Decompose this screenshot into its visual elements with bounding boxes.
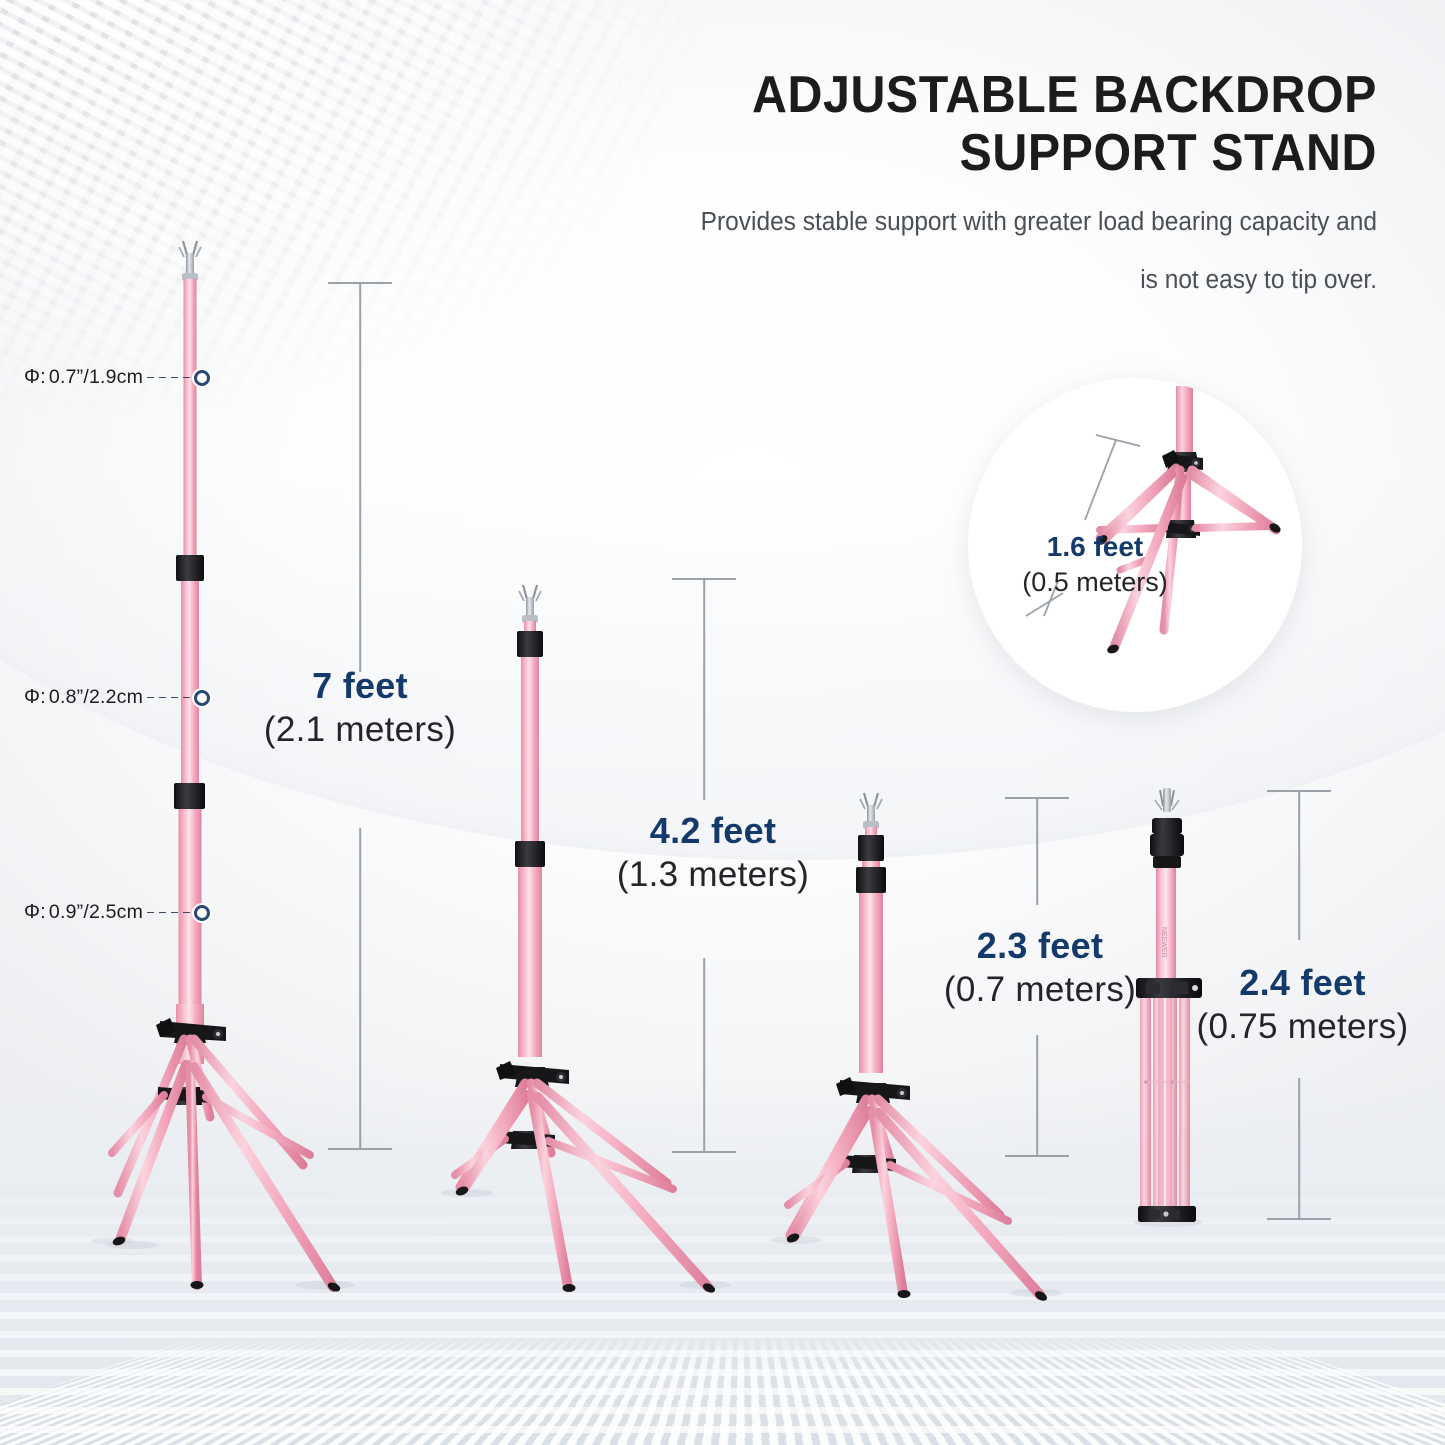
diameter-marker-dot <box>194 690 210 706</box>
diameter-value: 0.7”/1.9cm <box>49 366 143 389</box>
page-subtitle-line-1: Provides stable support with greater loa… <box>609 204 1377 240</box>
diameter-value: 0.9”/2.5cm <box>49 901 143 924</box>
leader-line <box>147 377 191 378</box>
svg-text:NEEWER: NEEWER <box>1160 927 1167 958</box>
lock-collar <box>517 631 543 657</box>
inset-measurement: 1.6 feet (0.5 meters) <box>990 530 1200 600</box>
lock-collar <box>176 555 204 581</box>
diameter-symbol: Φ: <box>24 686 46 709</box>
spigot-top-2 <box>519 585 541 623</box>
page-subtitle-line-2: is not easy to tip over. <box>609 262 1377 298</box>
tripod-leg <box>190 1065 197 1285</box>
diameter-symbol: Φ: <box>24 366 46 389</box>
tripod-leg <box>794 1111 868 1237</box>
page-title-line-2: SUPPORT STAND <box>633 124 1377 182</box>
diameter-callout-1: Φ: 0.7”/1.9cm <box>24 366 210 389</box>
inset-measurement-feet: 1.6 feet <box>990 530 1200 564</box>
tripod-leg <box>120 1065 186 1240</box>
lock-knob <box>1152 818 1182 834</box>
lock-collar <box>856 867 886 893</box>
spigot-top-1 <box>179 241 201 281</box>
diameter-marker-dot <box>194 370 210 386</box>
folded-leg <box>1140 998 1151 1218</box>
folded-foot-cap <box>1138 1206 1196 1222</box>
lock-collar <box>858 835 884 861</box>
inset-leg <box>1190 474 1274 528</box>
spigot-top-3 <box>860 793 882 829</box>
diameter-marker-dot <box>194 905 210 921</box>
leader-line <box>147 697 191 698</box>
diameter-value: 0.8”/2.2cm <box>49 686 143 709</box>
diameter-callout-2: Φ: 0.8”/2.2cm <box>24 686 210 709</box>
lock-collar <box>174 783 205 809</box>
diameter-callout-3: Φ: 0.9”/2.5cm <box>24 901 210 924</box>
lock-collar <box>515 841 545 867</box>
diameter-symbol: Φ: <box>24 901 46 924</box>
page-title-line-1: ADJUSTABLE BACKDROP <box>633 66 1377 124</box>
tripod-leg <box>194 1067 333 1287</box>
leader-line <box>147 912 191 913</box>
spigot-top-4 <box>1155 788 1179 812</box>
measurement-2-4ft: 2.4 feet (0.75 meters) <box>1175 962 1430 1050</box>
lock-knob <box>1150 834 1184 856</box>
header-block: ADJUSTABLE BACKDROP SUPPORT STAND Provid… <box>577 66 1377 298</box>
measurement-meters: (0.75 meters) <box>1175 1004 1430 1050</box>
measurement-feet: 2.4 feet <box>1175 962 1430 1004</box>
inset-measurement-meters: (0.5 meters) <box>990 564 1200 600</box>
infographic-canvas: ADJUSTABLE BACKDROP SUPPORT STAND Provid… <box>0 0 1445 1445</box>
